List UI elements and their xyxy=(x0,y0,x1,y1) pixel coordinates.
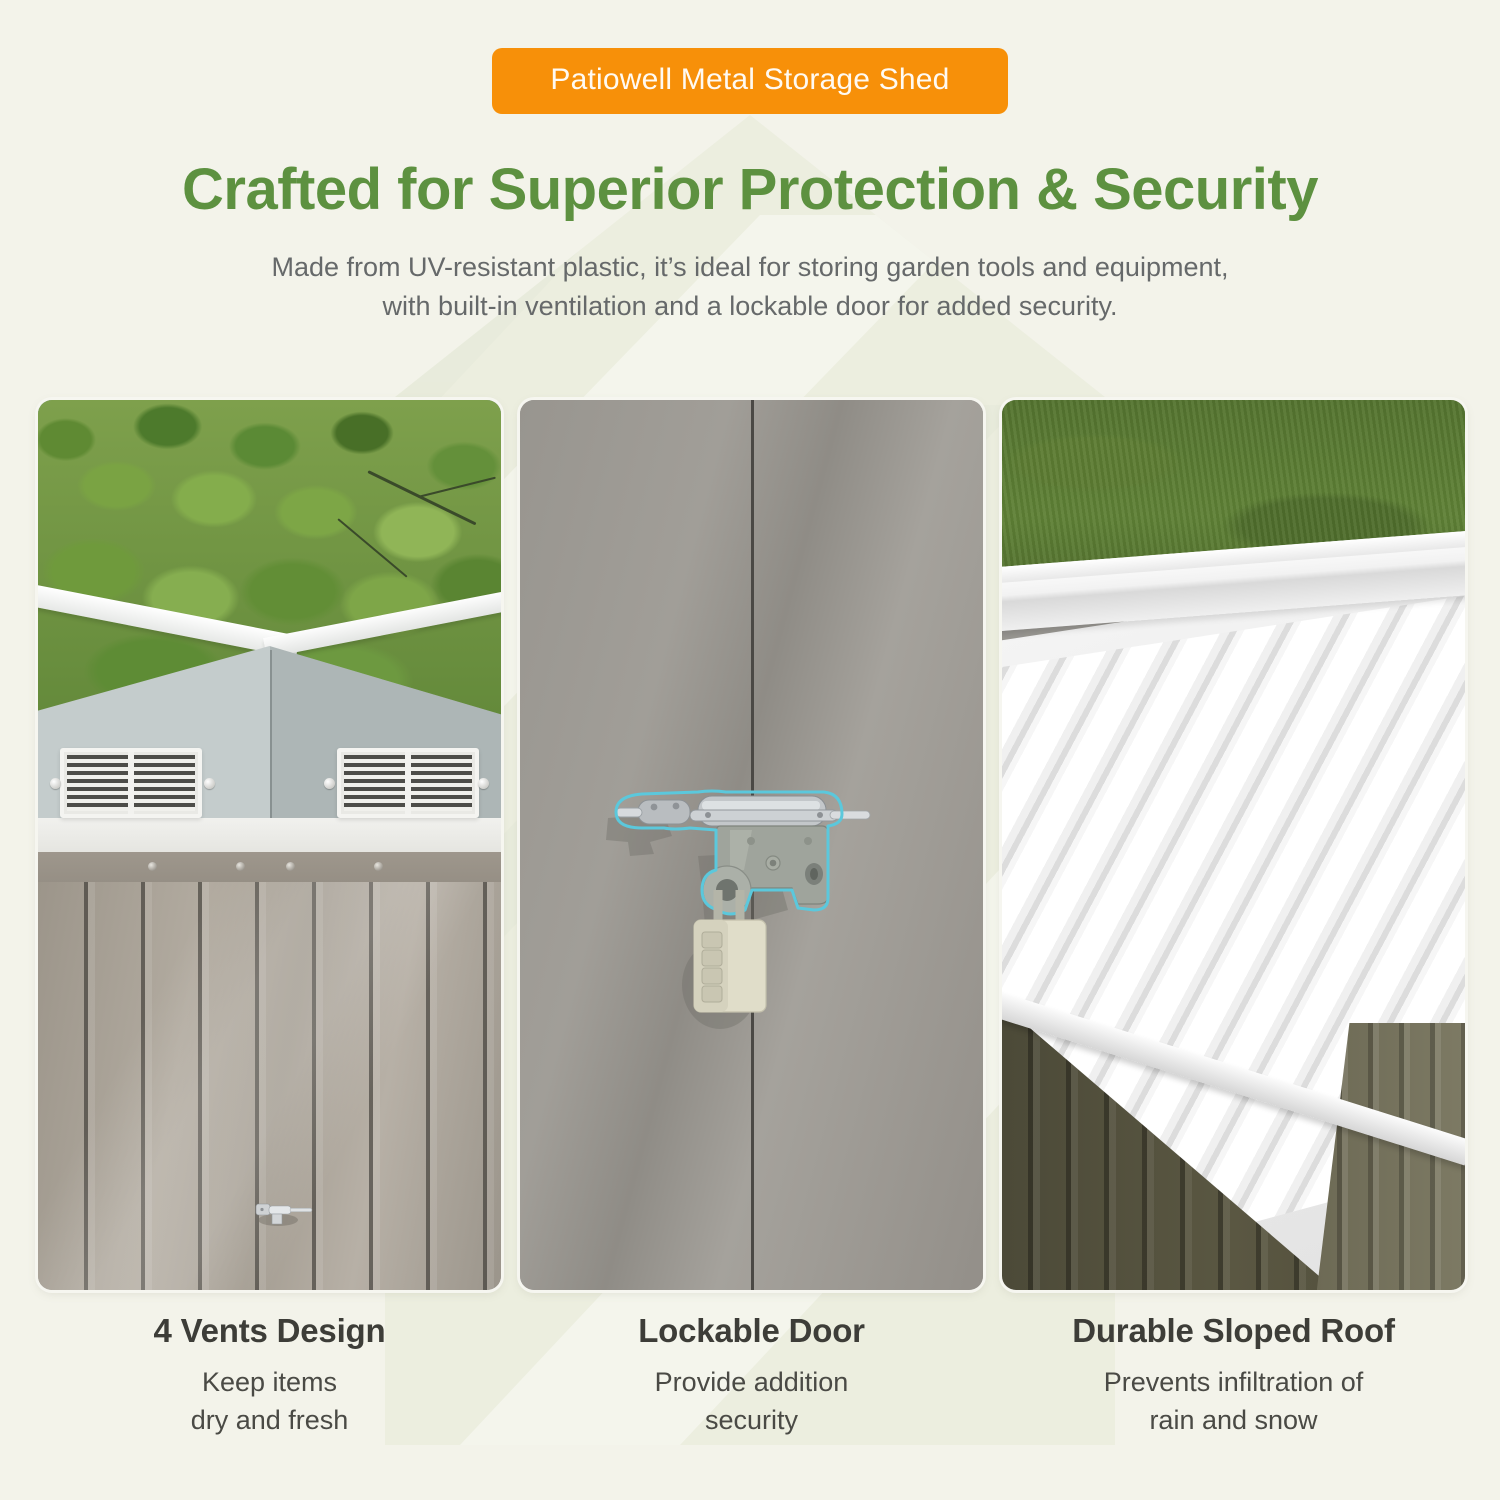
feature-caption-sloped-roof: Durable Sloped Roof Prevents infiltratio… xyxy=(1002,1312,1465,1440)
wall-top-band xyxy=(38,852,501,882)
vent-screw-icon xyxy=(204,778,215,789)
wall-light-reflection xyxy=(38,882,501,1290)
vent-louver-right xyxy=(337,748,479,818)
band-screw-icon xyxy=(374,862,383,871)
vent-divider xyxy=(405,752,411,814)
feature-image-lockable-door xyxy=(520,400,983,1290)
vent-divider xyxy=(128,752,134,814)
vent-screw-icon xyxy=(324,778,335,789)
feature-desc-line-1: Prevents infiltration of xyxy=(1002,1364,1465,1402)
vent-screw-icon xyxy=(50,778,61,789)
feature-desc-line-1: Provide addition xyxy=(520,1364,983,1402)
feature-description: Provide addition security xyxy=(520,1364,983,1440)
feature-desc-line-2: security xyxy=(520,1402,983,1440)
band-screw-icon xyxy=(148,862,157,871)
band-screw-icon xyxy=(286,862,295,871)
product-badge-row: Patiowell Metal Storage Shed xyxy=(0,48,1500,114)
subtitle-line-1: Made from UV-resistant plastic, it’s ide… xyxy=(0,248,1500,287)
page-title: Crafted for Superior Protection & Securi… xyxy=(0,158,1500,222)
door-latch-icon xyxy=(252,1198,322,1228)
feature-title: Lockable Door xyxy=(520,1312,983,1350)
product-badge: Patiowell Metal Storage Shed xyxy=(492,48,1007,114)
feature-title: Durable Sloped Roof xyxy=(1002,1312,1465,1350)
feature-desc-line-2: rain and snow xyxy=(1002,1402,1465,1440)
feature-caption-row: 4 Vents Design Keep items dry and fresh … xyxy=(38,1312,1465,1440)
feature-caption-vents: 4 Vents Design Keep items dry and fresh xyxy=(38,1312,501,1440)
subtitle-line-2: with built-in ventilation and a lockable… xyxy=(0,287,1500,326)
feature-title: 4 Vents Design xyxy=(38,1312,501,1350)
feature-desc-line-1: Keep items xyxy=(38,1364,501,1402)
feature-image-sloped-roof xyxy=(1002,400,1465,1290)
gable-seam xyxy=(270,650,272,840)
vent-screw-icon xyxy=(478,778,489,789)
feature-image-row xyxy=(38,400,1465,1290)
latch-and-padlock-assembly xyxy=(602,770,902,1060)
feature-image-vents xyxy=(38,400,501,1290)
vent-louver-left xyxy=(60,748,202,818)
feature-description: Keep items dry and fresh xyxy=(38,1364,501,1440)
page-subtitle: Made from UV-resistant plastic, it’s ide… xyxy=(0,248,1500,326)
feature-caption-lockable-door: Lockable Door Provide addition security xyxy=(520,1312,983,1440)
gable-lower-band xyxy=(38,818,501,856)
feature-description: Prevents infiltration of rain and snow xyxy=(1002,1364,1465,1440)
feature-desc-line-2: dry and fresh xyxy=(38,1402,501,1440)
band-screw-icon xyxy=(236,862,245,871)
